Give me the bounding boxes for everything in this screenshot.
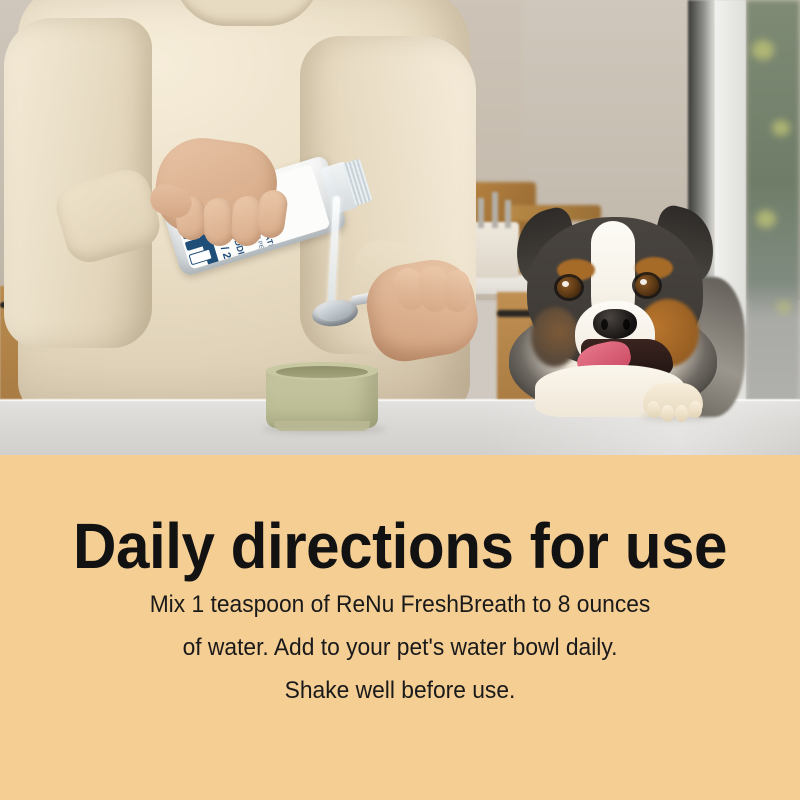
- page-title: Daily directions for use: [24, 515, 776, 577]
- poster-root: ReNu FRESHBREATH ORAL CARE FOR PETS WATE…: [0, 0, 800, 800]
- dog-eye-left: [557, 277, 581, 298]
- hero-photo: ReNu FRESHBREATH ORAL CARE FOR PETS WATE…: [0, 0, 800, 455]
- directions-line-1: Mix 1 teaspoon of ReNu FreshBreath to 8 …: [77, 583, 723, 626]
- directions-line-3: Shake well before use.: [77, 669, 723, 712]
- dog-cheek-left: [531, 307, 579, 367]
- bowl-foot: [274, 421, 370, 431]
- dog-eye-right: [635, 275, 659, 296]
- dog-nose: [593, 309, 637, 339]
- bowl-interior: [276, 366, 368, 378]
- dog: [495, 215, 735, 410]
- window-outdoor-view: [746, 0, 800, 455]
- directions-body: Mix 1 teaspoon of ReNu FreshBreath to 8 …: [77, 583, 723, 712]
- directions-line-2: of water. Add to your pet's water bowl d…: [77, 626, 723, 669]
